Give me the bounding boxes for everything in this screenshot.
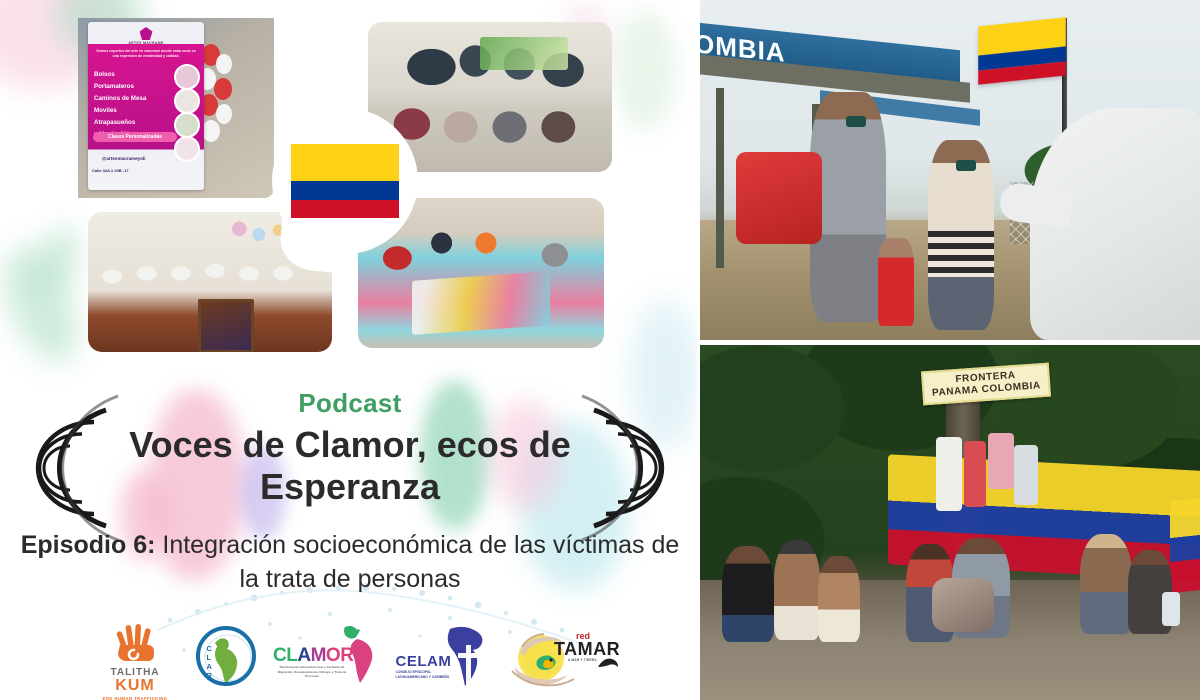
macrame-cta-badge: Clases Personalizadas	[93, 132, 177, 142]
macrame-product-list: Bolsos Portamateros Caminos de Mesa Movi…	[94, 69, 166, 142]
photo-darien-gap-border: FRONTERA PANAMA COLOMBIA	[700, 345, 1200, 700]
migrant-figure	[774, 540, 820, 640]
logo-clamor: CLAMOR Red Eclesial Latinoamericana y Ca…	[273, 623, 381, 693]
migrant-figure	[818, 556, 860, 642]
resting-migrants-group	[700, 522, 1200, 652]
colombia-flag-bubble	[272, 108, 418, 254]
red-backpack	[736, 152, 822, 244]
macrame-item: Moviles	[94, 105, 166, 117]
celam-wordmark: CELAM	[396, 653, 452, 670]
macrame-item: Bolsos	[94, 69, 166, 81]
podcast-title: Voces de Clamor, ecos de Esperanza	[60, 424, 640, 509]
macrame-brand-logo: ARTES MACRAME	[126, 27, 166, 47]
backpack	[932, 578, 994, 632]
clar-letter: A	[207, 662, 212, 671]
migrant-figure	[722, 546, 774, 642]
colombia-flag-icon	[291, 144, 399, 218]
podcast-label: Podcast	[0, 388, 700, 419]
episode-topic: Integración socioeconómica de las víctim…	[155, 531, 679, 593]
decorative-blob-mint	[615, 10, 675, 130]
episode-description: Episodio 6: Integración socioeconómica d…	[14, 528, 686, 596]
migrant-figure-with-hat	[1080, 534, 1132, 634]
photo-macrame-fair-stand: ARTES MACRAME Somos expertos del arte en…	[78, 18, 274, 198]
hand-spiral-icon	[114, 623, 156, 661]
clar-letters: C L A R	[207, 644, 212, 680]
macrame-tagline: Somos expertos del arte en macramé donde…	[96, 49, 196, 60]
tamar-subtitle: A MAR Y TIERRA	[568, 658, 597, 662]
clar-ring-icon: C L A R	[196, 626, 256, 686]
macrame-banner-card: ARTES MACRAME Somos expertos del arte en…	[88, 22, 204, 190]
poster-canvas: ARTES MACRAME Somos expertos del arte en…	[0, 0, 1200, 700]
clar-letter: C	[207, 644, 212, 653]
logo-red-tamar: red TAMAR A MAR Y TIERRA	[510, 623, 622, 693]
macrame-item: Atrapasueños	[94, 117, 166, 129]
photo-colombia-border-crossing: OMBIA MIGRACIÓN	[700, 0, 1200, 340]
celam-subtitle: CONSEJO EPISCOPAL LATINOAMERICANO Y CARI…	[396, 670, 458, 680]
logo-celam: CELAM CONSEJO EPISCOPAL LATINOAMERICANO …	[394, 623, 498, 693]
tamar-bird-silhouette-icon	[596, 655, 620, 673]
clamor-subtitle: Red Eclesial Latinoamericana y Caribeña …	[275, 665, 349, 679]
clamor-wordmark: CLAMOR	[273, 645, 353, 667]
left-panel: ARTES MACRAME Somos expertos del arte en…	[0, 0, 700, 700]
clar-letter: L	[207, 653, 212, 662]
logo-talitha-kum: TALITHA KUM END HUMAN TRAFFICKING	[92, 623, 178, 693]
macrame-brand-name: ARTES MACRAME	[126, 41, 166, 45]
macrame-item: Portamateros	[94, 81, 166, 93]
water-bottle	[1162, 592, 1180, 626]
migrant-child	[878, 238, 914, 326]
macrame-address: Calle 32A # 29B -17	[92, 168, 129, 173]
talitha-kum-line2: KUM	[92, 678, 178, 695]
clar-letter: R	[207, 671, 212, 680]
celam-map-cross-icon	[444, 623, 500, 691]
macrame-item: Caminos de Mesa	[94, 93, 166, 105]
logo-clar: C L A R	[191, 623, 261, 693]
episode-number-label: Episodio 6:	[21, 531, 156, 559]
partner-logo-strip: TALITHA KUM END HUMAN TRAFFICKING C L A	[92, 622, 622, 694]
macrame-social-handle: @artesmacrameyoli	[102, 156, 146, 161]
colombia-flag-waving-icon	[978, 17, 1066, 85]
talitha-kum-tagline: END HUMAN TRAFFICKING	[92, 696, 178, 700]
